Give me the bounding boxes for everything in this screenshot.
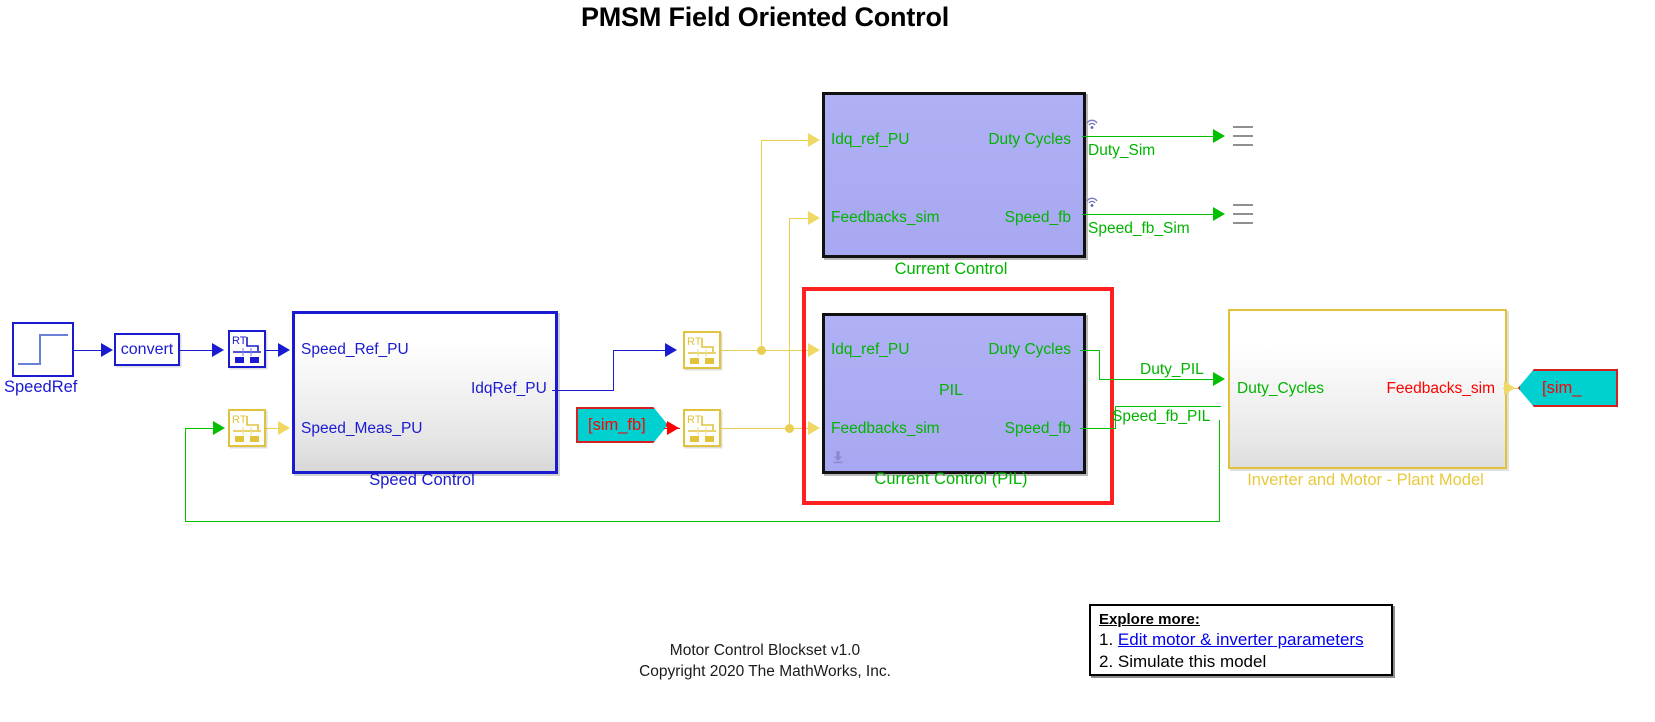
explore-more-heading: Explore more: xyxy=(1099,610,1200,629)
wire-duty-pil-h2 xyxy=(1099,379,1215,380)
signal-label-duty-pil: Duty_PIL xyxy=(1140,362,1204,378)
wire-speedctrl-to-rt3 xyxy=(613,350,666,351)
speed-control-input-1-label: Speed_Ref_PU xyxy=(301,342,409,358)
pil-output-1-label: Duty Cycles xyxy=(931,342,1071,358)
current-control-input-1-label: Idq_ref_PU xyxy=(831,132,909,148)
wire-speed-fb-sim xyxy=(1082,214,1214,215)
wire-fb-vertical-left xyxy=(185,428,186,522)
wire-duty-pil-h1 xyxy=(1080,350,1100,351)
speedref-step-block[interactable] xyxy=(12,322,74,377)
signal-logging-icon-speed-fb-sim xyxy=(1084,194,1100,208)
pil-badge-icon xyxy=(831,450,845,464)
pil-center-label: PIL xyxy=(822,382,1080,400)
wire-idq-to-cc xyxy=(761,140,811,141)
page-title: PMSM Field Oriented Control xyxy=(0,2,1530,33)
arrow-convert-in xyxy=(101,343,113,357)
wire-rt2-to-speedctrl xyxy=(266,428,280,429)
rate-transition-block-1[interactable]: RT xyxy=(228,330,266,368)
current-control-block[interactable] xyxy=(822,92,1086,258)
svg-text:RT: RT xyxy=(232,335,247,347)
svg-text:RT: RT xyxy=(687,336,702,348)
svg-text:RT: RT xyxy=(687,414,702,426)
arrow-plant-in xyxy=(1213,372,1225,386)
speed-control-output-1-label: IdqRef_PU xyxy=(471,381,547,397)
pil-output-2-label: Speed_fb xyxy=(931,421,1071,437)
wire-speedctrl-out xyxy=(552,390,614,391)
wire-fb-vertical-right xyxy=(1219,420,1220,521)
arrow-terminator-1 xyxy=(1213,129,1225,143)
wire-rt3-out xyxy=(721,350,811,351)
rate-transition-block-2[interactable]: RT xyxy=(228,409,266,447)
pil-input-1-label: Idq_ref_PU xyxy=(831,342,909,358)
arrow-cc-in2 xyxy=(808,211,820,225)
svg-text:RT: RT xyxy=(232,414,247,426)
wire-fb-to-rt2 xyxy=(185,428,215,429)
convert-block[interactable]: convert xyxy=(114,333,180,366)
arrow-rt1-in xyxy=(212,343,224,357)
current-control-pil-caption: Current Control (PIL) xyxy=(822,471,1080,488)
wire-step-to-convert xyxy=(74,350,102,351)
footer-line-2: Copyright 2020 The MathWorks, Inc. xyxy=(0,661,1530,682)
from-tag-sim-fb[interactable]: [sim_fb] xyxy=(576,407,668,443)
wire-convert-to-rt1 xyxy=(180,350,213,351)
current-control-caption: Current Control xyxy=(822,261,1080,278)
simulink-canvas: PMSM Field Oriented Control SpeedRef con… xyxy=(0,0,1655,722)
wire-idq-up xyxy=(761,140,762,351)
rate-transition-block-3[interactable]: RT xyxy=(683,331,721,369)
arrow-goto-in xyxy=(1504,381,1515,395)
pil-input-2-label: Feedbacks_sim xyxy=(831,421,940,437)
arrow-speedctrl-in1 xyxy=(278,343,290,357)
terminator-duty-sim[interactable] xyxy=(1233,126,1255,148)
goto-tag-sim-fb[interactable]: [sim_ xyxy=(1518,369,1618,407)
speed-control-input-2-label: Speed_Meas_PU xyxy=(301,421,423,437)
current-control-output-1-label: Duty Cycles xyxy=(931,132,1071,148)
wire-speedfb-pil-h2 xyxy=(1115,406,1221,407)
signal-label-speed-fb-sim: Speed_fb_Sim xyxy=(1088,221,1190,237)
wire-fb-bottom xyxy=(185,521,1220,522)
arrow-terminator-2 xyxy=(1213,207,1225,221)
plant-output-1-label: Feedbacks_sim xyxy=(1363,381,1495,397)
arrow-rt4-in xyxy=(667,421,679,435)
speed-control-caption: Speed Control xyxy=(292,472,552,489)
footer-line-1: Motor Control Blockset v1.0 xyxy=(0,640,1530,661)
wire-rt4-out xyxy=(721,428,811,429)
terminator-speed-fb-sim[interactable] xyxy=(1233,204,1255,226)
speedref-label: SpeedRef xyxy=(4,378,77,397)
arrow-rt3-in xyxy=(665,343,677,357)
current-control-input-2-label: Feedbacks_sim xyxy=(831,210,940,226)
wire-duty-pil-v xyxy=(1099,350,1100,380)
wire-duty-sim xyxy=(1082,136,1214,137)
wire-speedctrl-out-v xyxy=(613,350,614,391)
arrow-cc-in1 xyxy=(808,133,820,147)
plant-model-caption: Inverter and Motor - Plant Model xyxy=(1228,472,1503,489)
wire-speedfb-pil-h1 xyxy=(1080,428,1116,429)
wire-fb-up xyxy=(789,218,790,429)
signal-logging-icon-duty-sim xyxy=(1084,116,1100,130)
signal-label-duty-sim: Duty_Sim xyxy=(1088,143,1155,159)
current-control-output-2-label: Speed_fb xyxy=(931,210,1071,226)
plant-input-1-label: Duty_Cycles xyxy=(1237,381,1324,397)
rate-transition-block-4[interactable]: RT xyxy=(683,409,721,447)
signal-label-speed-fb-pil: Speed_fb_PIL xyxy=(1112,409,1210,425)
footer-credits: Motor Control Blockset v1.0 Copyright 20… xyxy=(0,640,1530,683)
